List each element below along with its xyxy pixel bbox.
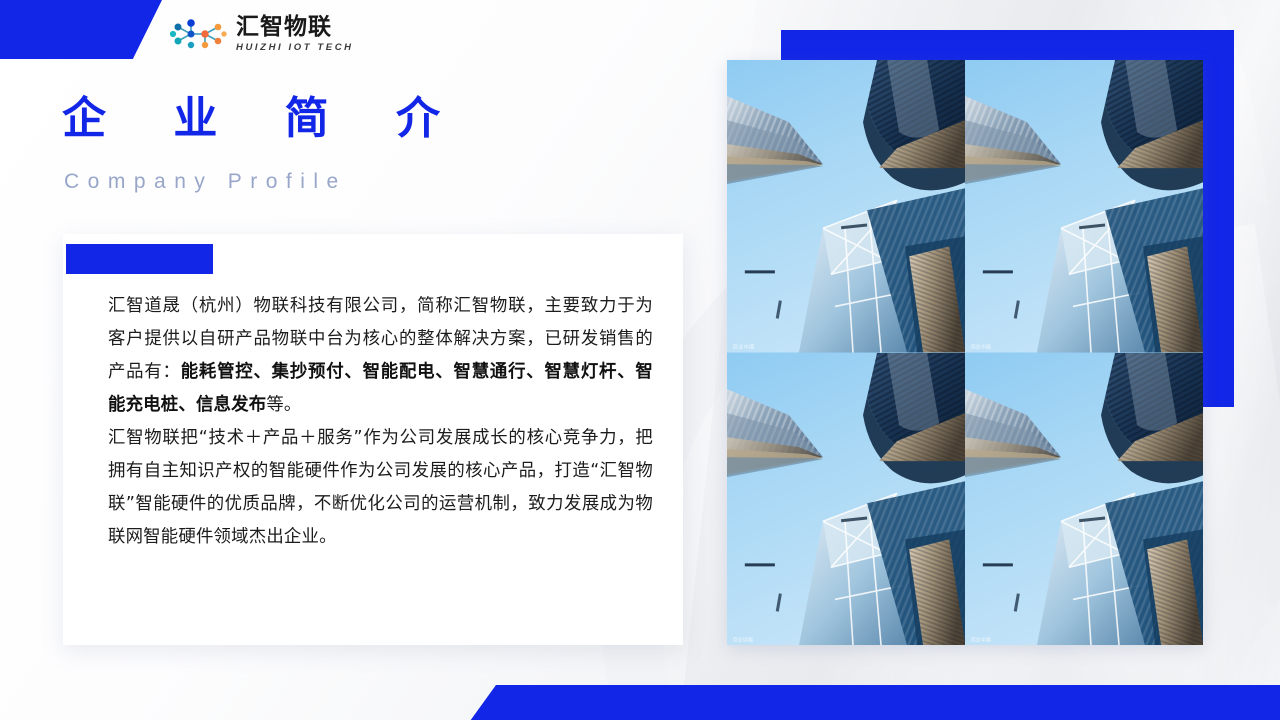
svg-text:商业中国: 商业中国 (733, 343, 755, 350)
gallery-tile: 商业中国 (727, 60, 965, 353)
page-title: 企 业 简 介 (62, 96, 466, 142)
gallery-tile: 商业中国 (727, 353, 965, 646)
svg-text:商业中国: 商业中国 (733, 636, 753, 643)
profile-paragraph-2: 汇智物联把“技术＋产品＋服务”作为公司发展成长的核心竞争力，把拥有自主知识产权的… (108, 422, 653, 554)
brand-logo: 汇智物联 HUIZHI IOT TECH (168, 12, 354, 56)
svg-text:商业中国: 商业中国 (971, 343, 991, 350)
brand-name-cn: 汇智物联 (236, 16, 354, 39)
brand-logo-text: 汇智物联 HUIZHI IOT TECH (236, 16, 354, 53)
gallery-tile: 商业中国 (965, 60, 1203, 353)
page-subtitle: Company Profile (64, 170, 347, 194)
card-accent-tab (66, 244, 213, 274)
corner-accent-bottom (470, 685, 1280, 720)
gallery-tile: 商业中国 (965, 353, 1203, 646)
card-text-body: 汇智道晟（杭州）物联科技有限公司，简称汇智物联，主要致力于为客户提供以自研产品物… (108, 290, 653, 554)
gallery-photo-grid: 商业中国 (727, 60, 1203, 645)
brand-name-en: HUIZHI IOT TECH (236, 43, 354, 53)
profile-paragraph-1: 汇智道晟（杭州）物联科技有限公司，简称汇智物联，主要致力于为客户提供以自研产品物… (108, 290, 653, 422)
company-profile-card: 汇智道晟（杭州）物联科技有限公司，简称汇智物联，主要致力于为客户提供以自研产品物… (63, 234, 683, 645)
molecule-network-icon (168, 17, 230, 51)
svg-text:商业中国: 商业中国 (971, 636, 991, 643)
slide-canvas: 汇智物联 HUIZHI IOT TECH 企 业 简 介 Company Pro… (0, 0, 1280, 720)
